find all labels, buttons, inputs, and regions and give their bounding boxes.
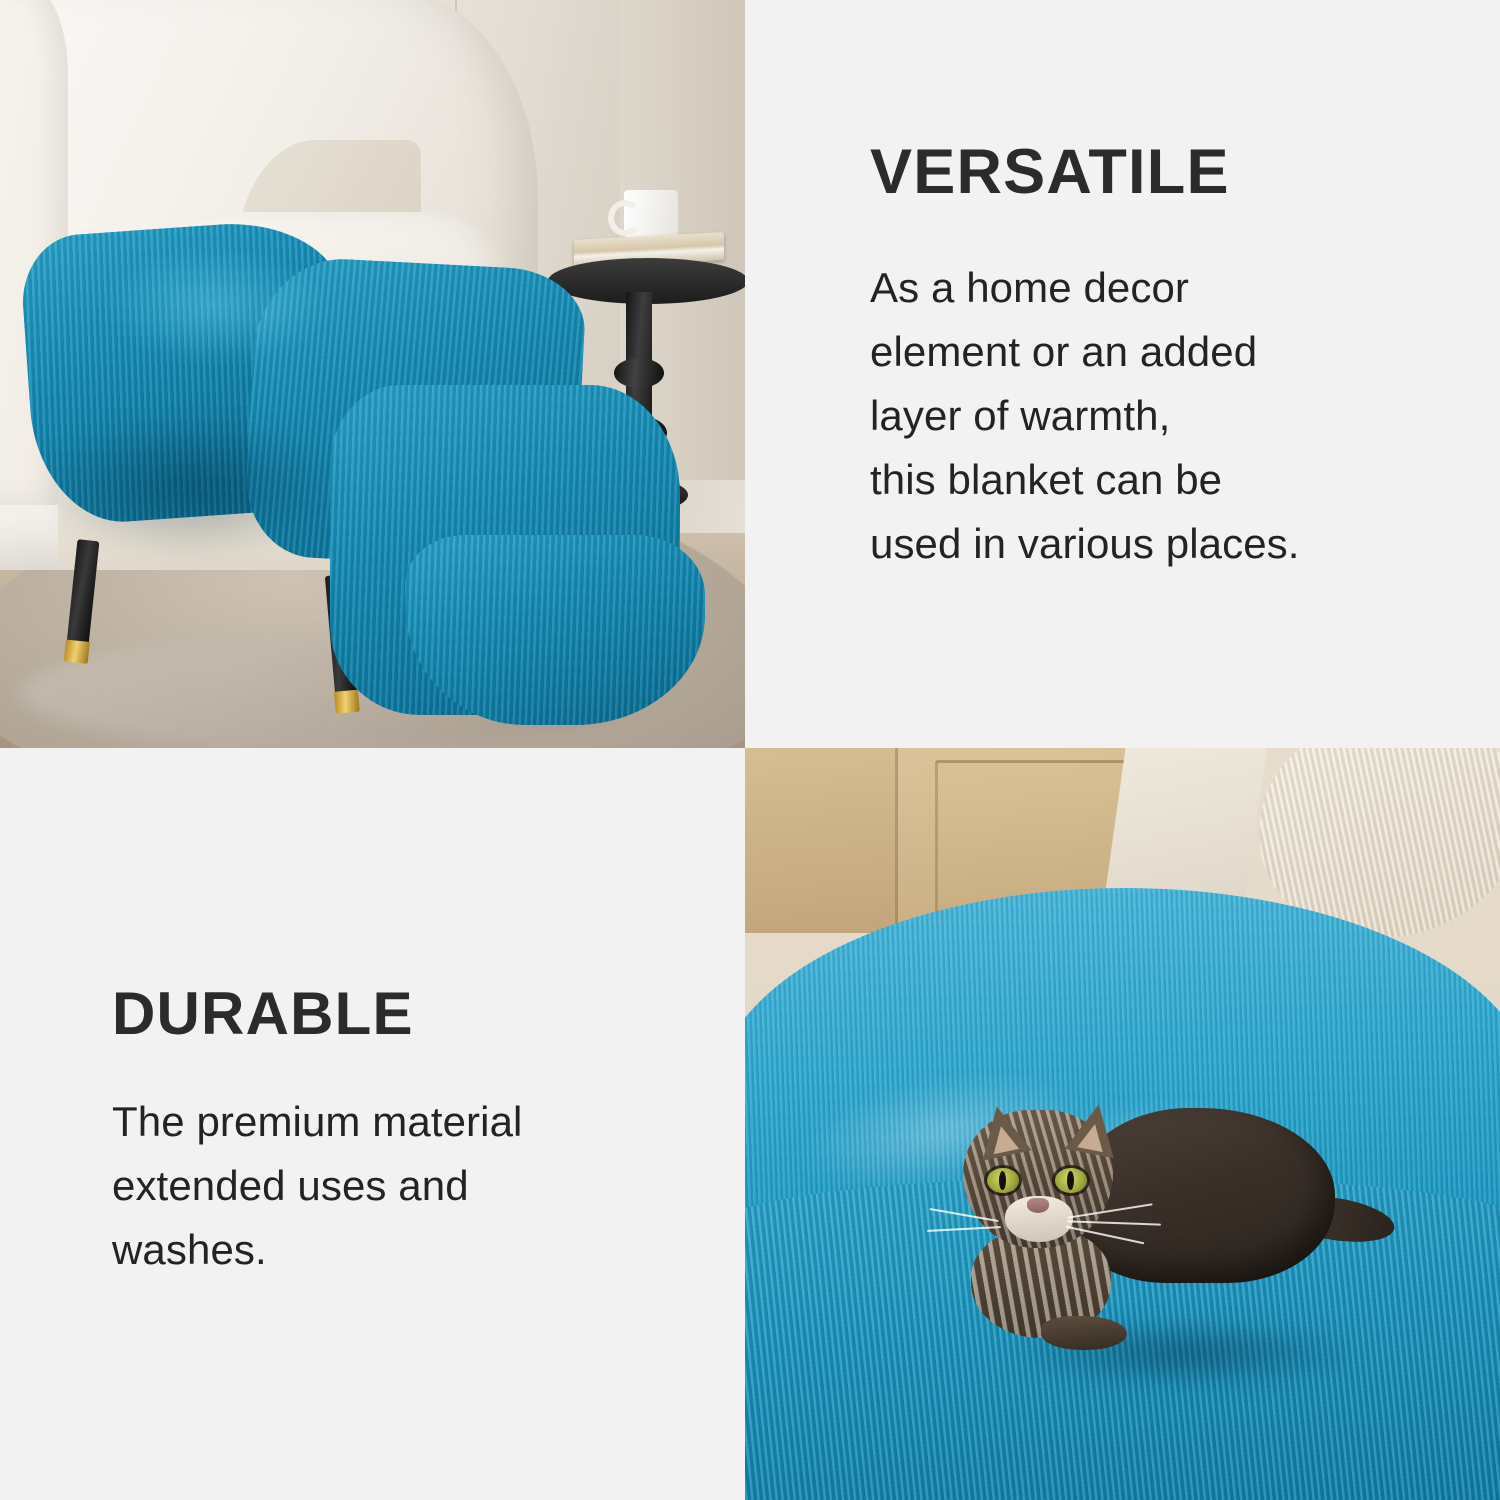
cat-head [963, 1110, 1113, 1248]
versatile-body-line-5: used in various places. [870, 512, 1460, 576]
versatile-heading: VERSATILE [870, 140, 1460, 204]
cat-eye-left [987, 1168, 1019, 1193]
versatile-body-line-2: element or an added [870, 320, 1460, 384]
durable-body-line-3: washes. [112, 1218, 705, 1282]
durable-body-line-2: extended uses and [112, 1154, 705, 1218]
durable-body-line-1: The premium material [112, 1090, 705, 1154]
versatile-body-line-3: layer of warmth, [870, 384, 1460, 448]
durable-heading: DURABLE [112, 983, 705, 1044]
tabby-cat [945, 1078, 1375, 1378]
versatile-body-line-4: this blanket can be [870, 448, 1460, 512]
throw-drape-lower [405, 535, 705, 725]
versatile-body: As a home decor element or an added laye… [870, 256, 1460, 575]
durable-body: The premium material extended uses and w… [112, 1090, 705, 1281]
cat-ear-right [1065, 1100, 1124, 1159]
throw-shadow [40, 415, 340, 555]
cat-paw [1041, 1316, 1127, 1350]
cat-nose [1027, 1198, 1049, 1213]
headboard-side-panel [745, 748, 898, 933]
versatile-body-line-1: As a home decor [870, 256, 1460, 320]
feature-collage: VERSATILE As a home decor element or an … [0, 0, 1500, 1500]
cat-eye-right [1055, 1168, 1087, 1193]
versatile-panel: VERSATILE As a home decor element or an … [745, 0, 1500, 748]
durable-panel: DURABLE The premium material extended us… [0, 748, 745, 1500]
throw-highlight [100, 245, 330, 365]
chair-with-throw-photo [0, 0, 745, 748]
teal-throw-blanket [10, 205, 700, 715]
cat-on-blanket-photo [745, 748, 1500, 1500]
cat-ear-left [972, 1101, 1031, 1160]
